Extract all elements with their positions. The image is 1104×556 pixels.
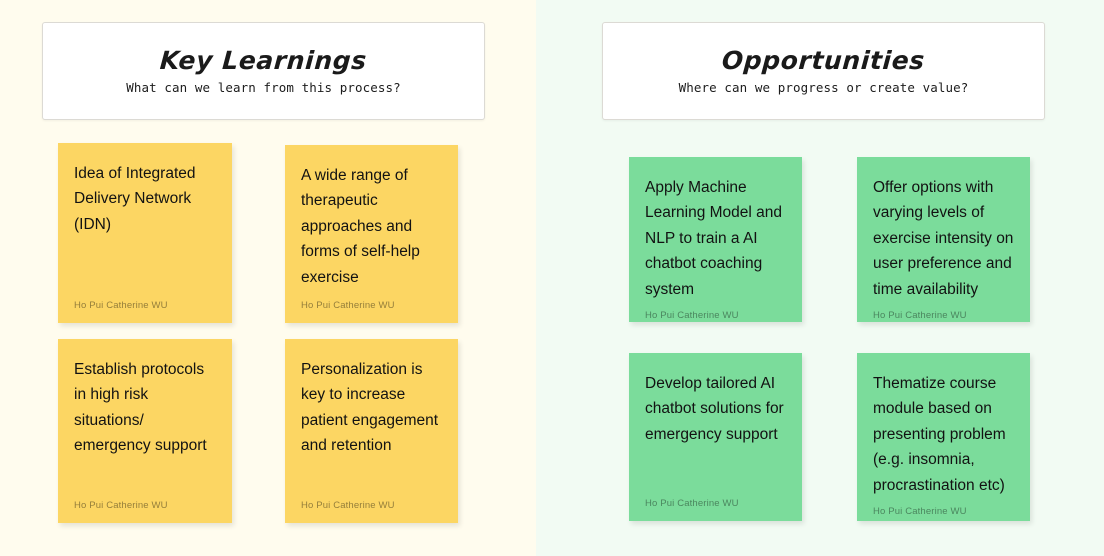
panel-subtitle-key-learnings: What can we learn from this process?	[126, 80, 401, 95]
panel-key-learnings: Key Learnings What can we learn from thi…	[0, 0, 536, 556]
sticky-note[interactable]: Offer options with varying levels of exe…	[857, 157, 1030, 322]
sticky-note-text: Establish protocols in high risk situati…	[74, 357, 216, 492]
panel-title-key-learnings: Key Learnings	[159, 47, 368, 75]
sticky-note[interactable]: Personalization is key to increase patie…	[285, 339, 458, 523]
sticky-note[interactable]: Establish protocols in high risk situati…	[58, 339, 232, 523]
sticky-note-author: Ho Pui Catherine WU	[301, 492, 442, 511]
sticky-note[interactable]: A wide range of therapeutic approaches a…	[285, 145, 458, 323]
panel-title-opportunities: Opportunities	[721, 47, 926, 75]
sticky-note-author: Ho Pui Catherine WU	[74, 292, 216, 311]
sticky-note-author: Ho Pui Catherine WU	[301, 292, 442, 311]
retrospective-board: Key Learnings What can we learn from thi…	[0, 0, 1104, 556]
sticky-note-text: A wide range of therapeutic approaches a…	[301, 163, 442, 292]
sticky-note[interactable]: Apply Machine Learning Model and NLP to …	[629, 157, 802, 322]
header-card-key-learnings: Key Learnings What can we learn from thi…	[42, 22, 485, 120]
sticky-note-text: Thematize course module based on present…	[873, 371, 1014, 498]
sticky-note-author: Ho Pui Catherine WU	[645, 490, 786, 509]
sticky-note[interactable]: Idea of Integrated Delivery Network (IDN…	[58, 143, 232, 323]
sticky-note-author: Ho Pui Catherine WU	[873, 302, 1014, 321]
sticky-note-text: Offer options with varying levels of exe…	[873, 175, 1014, 302]
panel-subtitle-opportunities: Where can we progress or create value?	[679, 80, 969, 95]
sticky-note-author: Ho Pui Catherine WU	[645, 302, 786, 321]
sticky-note-text: Idea of Integrated Delivery Network (IDN…	[74, 161, 216, 292]
panel-opportunities: Opportunities Where can we progress or c…	[536, 0, 1104, 556]
header-card-opportunities: Opportunities Where can we progress or c…	[602, 22, 1045, 120]
sticky-note[interactable]: Thematize course module based on present…	[857, 353, 1030, 521]
sticky-note-author: Ho Pui Catherine WU	[74, 492, 216, 511]
sticky-note-text: Develop tailored AI chatbot solutions fo…	[645, 371, 786, 490]
sticky-note-author: Ho Pui Catherine WU	[873, 498, 1014, 517]
sticky-note-text: Personalization is key to increase patie…	[301, 357, 442, 492]
sticky-note-text: Apply Machine Learning Model and NLP to …	[645, 175, 786, 302]
sticky-note[interactable]: Develop tailored AI chatbot solutions fo…	[629, 353, 802, 521]
